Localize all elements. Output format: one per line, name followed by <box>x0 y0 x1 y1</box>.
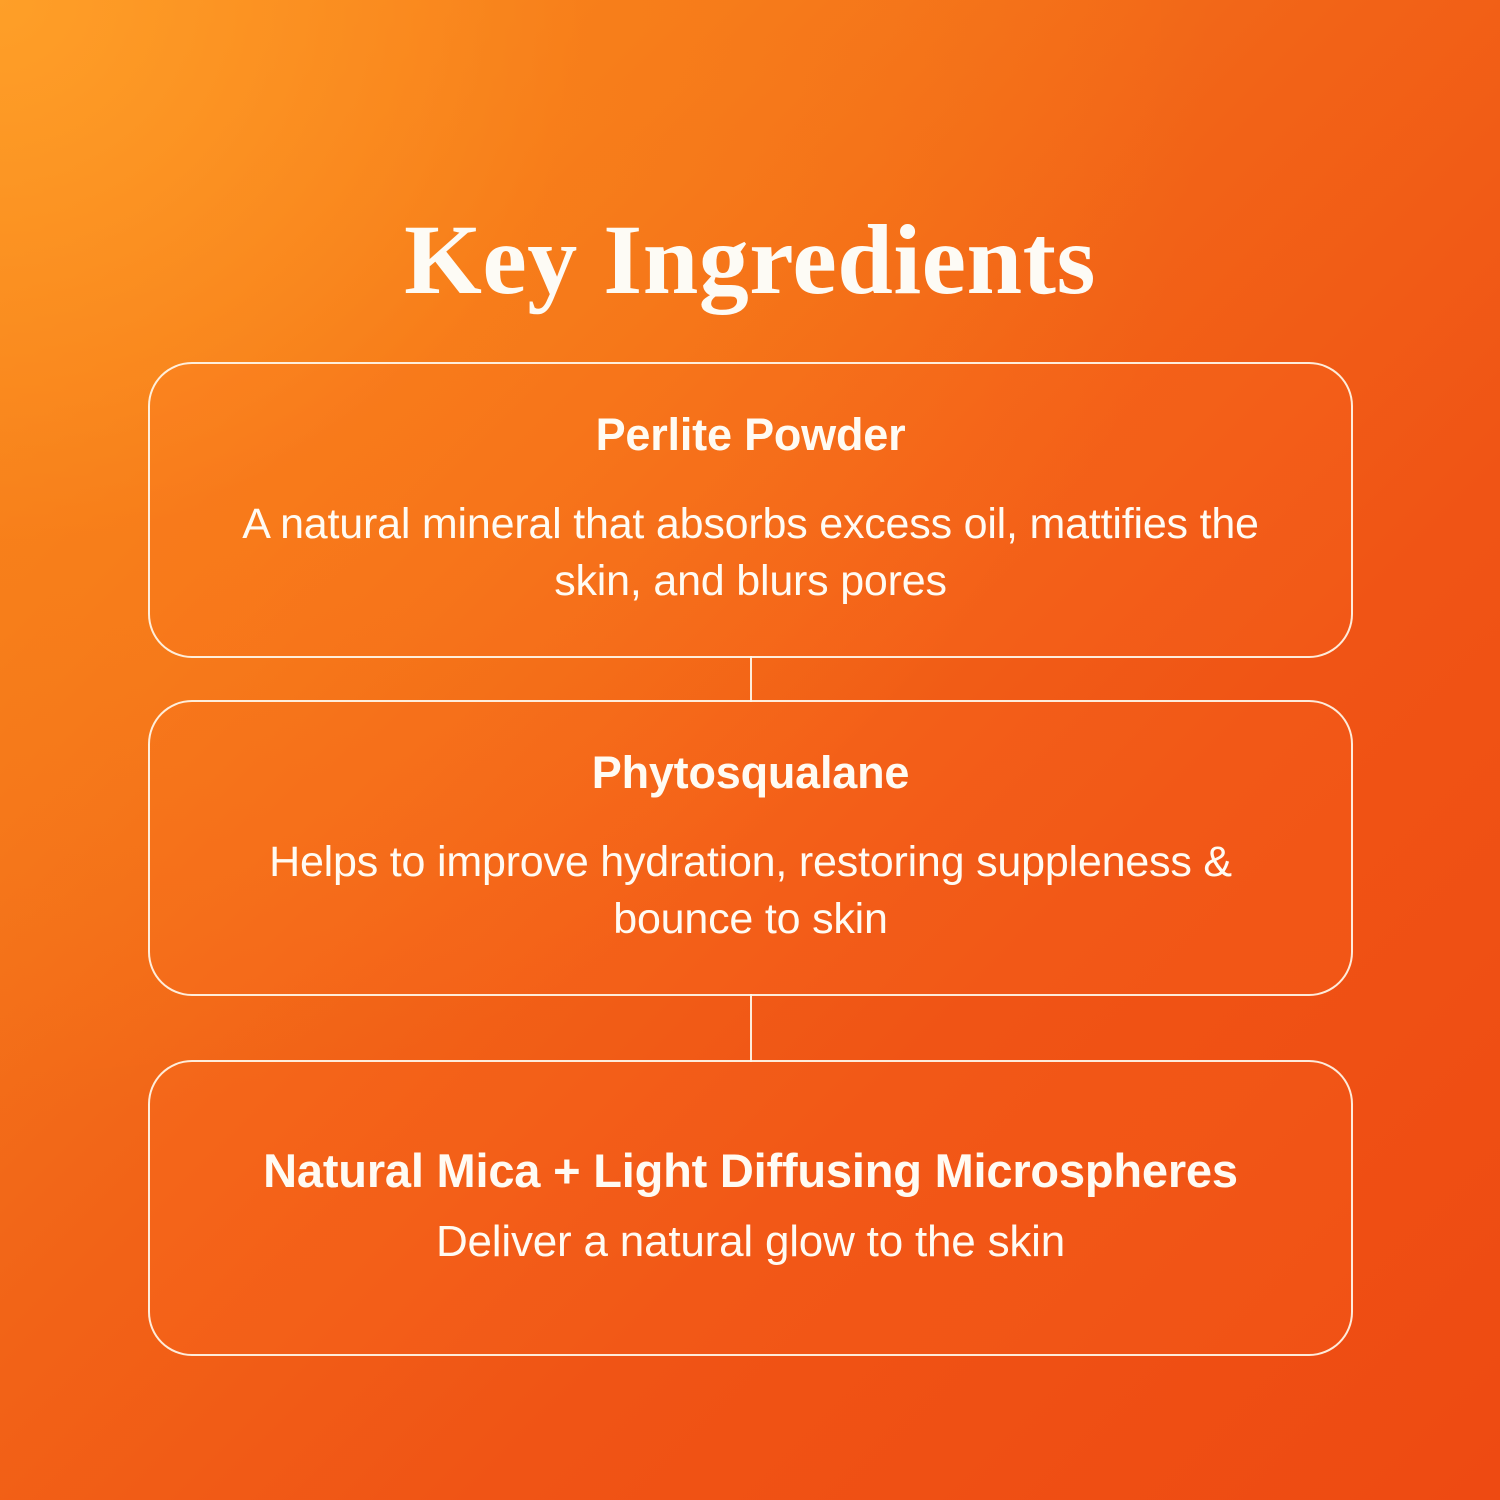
ingredient-heading: Natural Mica + Light Diffusing Microsphe… <box>223 1145 1278 1198</box>
ingredient-description: A natural mineral that absorbs excess oi… <box>150 496 1351 610</box>
ingredient-description: Deliver a natural glow to the skin <box>376 1213 1125 1271</box>
card-connector-line <box>750 994 752 1062</box>
page-title: Key Ingredients <box>0 207 1500 312</box>
key-ingredients-infographic: Key Ingredients Perlite Powder A natural… <box>0 0 1500 1500</box>
card-connector-line <box>750 656 752 702</box>
ingredient-card-phytosqualane: Phytosqualane Helps to improve hydration… <box>148 700 1353 996</box>
ingredient-heading: Phytosqualane <box>552 748 949 798</box>
ingredient-heading: Perlite Powder <box>556 410 946 460</box>
ingredient-card-natural-mica-microspheres: Natural Mica + Light Diffusing Microsphe… <box>148 1060 1353 1356</box>
ingredient-description: Helps to improve hydration, restoring su… <box>150 834 1351 948</box>
ingredient-card-perlite-powder: Perlite Powder A natural mineral that ab… <box>148 362 1353 658</box>
